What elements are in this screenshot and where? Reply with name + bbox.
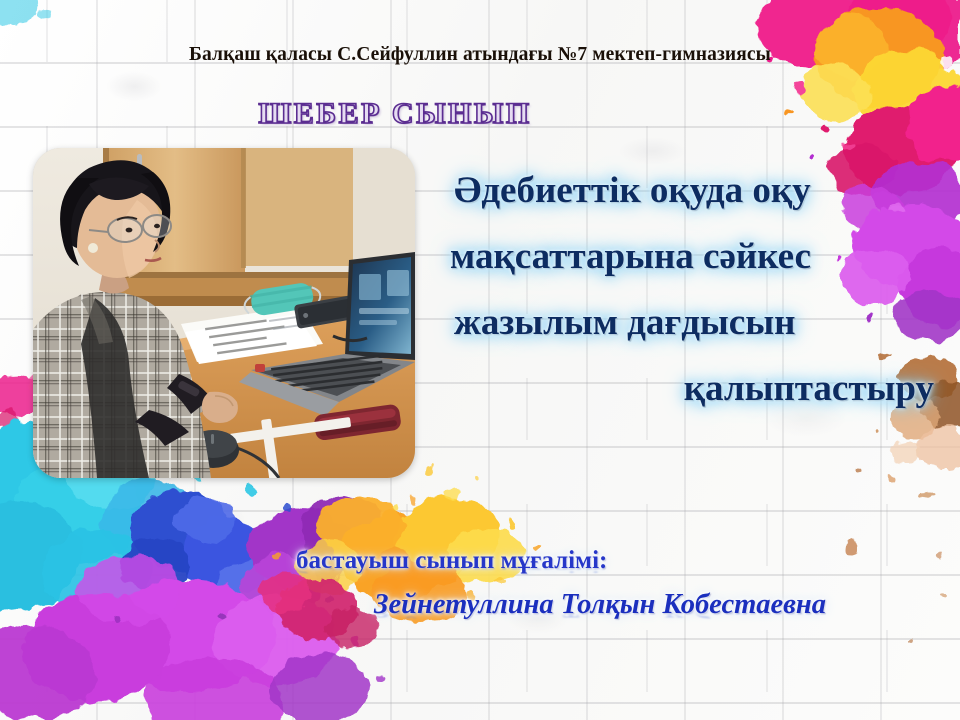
headline-line-3: жазылым дағдысын	[432, 290, 940, 356]
headline-line-2: мақсаттарына сәйкес	[432, 224, 940, 290]
page-title: Балқаш қаласы С.Сейфуллин атындағы №7 ме…	[0, 44, 960, 66]
main-headline: Әдебиеттік оқуда оқу мақсаттарына сәйкес…	[432, 158, 940, 422]
role-label: бастауыш сынып мұғалімі:	[296, 547, 607, 575]
wordart-subtitle: ШЕБЕР СЫНЫП	[0, 97, 790, 131]
headline-line-4: қалыптастыру	[432, 356, 940, 422]
teacher-photo	[33, 148, 415, 478]
presentation-slide: Балқаш қаласы С.Сейфуллин атындағы №7 ме…	[0, 0, 960, 720]
headline-line-1: Әдебиеттік оқуда оқу	[432, 158, 940, 224]
teacher-name: Зейнетуллина Толқын Кобестаевна	[374, 589, 826, 621]
